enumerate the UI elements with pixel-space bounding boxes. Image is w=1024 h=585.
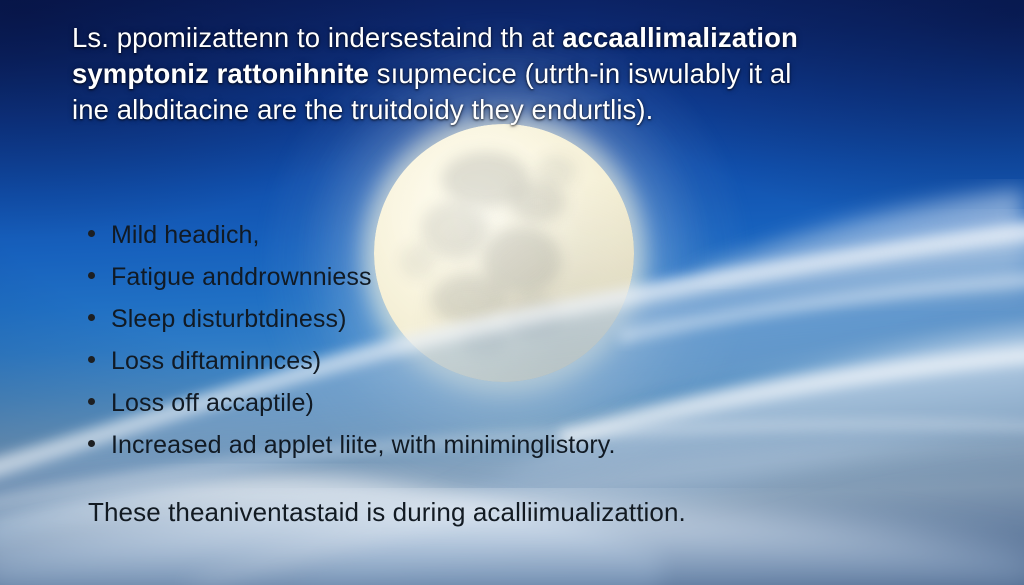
title-line-3: ine albditacine are the truitdoidy they … xyxy=(72,92,992,128)
list-item: Increased ad applet liite, with miniming… xyxy=(88,424,968,466)
list-item-label: Increased ad applet liite, with miniming… xyxy=(111,424,616,466)
closing-statement: These theaniventastaid is during acallii… xyxy=(88,494,988,530)
list-item: Loss off accaptile) xyxy=(88,382,968,424)
list-item-label: Mild headich, xyxy=(111,214,260,256)
slide-content: Ls. ppomiizattenn to indersestaind th at… xyxy=(0,0,1024,585)
title-line-2-plain: sıupmecice (utrth-in iswulably it al xyxy=(369,58,791,89)
slide-title: Ls. ppomiizattenn to indersestaind th at… xyxy=(72,20,992,128)
title-line-1: Ls. ppomiizattenn to indersestaind th at… xyxy=(72,20,992,56)
symptom-bullet-list: Mild headich, Fatigue anddrownniess Slee… xyxy=(88,214,968,466)
list-item-label: Sleep disturbtdiness) xyxy=(111,298,347,340)
bullet-dot-icon xyxy=(88,314,95,321)
list-item-label: Loss diftaminnces) xyxy=(111,340,321,382)
list-item: Fatigue anddrownniess xyxy=(88,256,968,298)
slide-canvas: Ls. ppomiizattenn to indersestaind th at… xyxy=(0,0,1024,585)
title-line-2: symptoniz rattonihnite sıupmecice (utrth… xyxy=(72,56,992,92)
bullet-dot-icon xyxy=(88,272,95,279)
bullet-dot-icon xyxy=(88,398,95,405)
list-item: Sleep disturbtdiness) xyxy=(88,298,968,340)
title-line-1-plain: Ls. ppomiizattenn to indersestaind th at xyxy=(72,22,562,53)
bullet-dot-icon xyxy=(88,356,95,363)
bullet-dot-icon xyxy=(88,440,95,447)
title-line-2-emphasis: symptoniz rattonihnite xyxy=(72,58,369,89)
title-line-1-emphasis: accaallimalization xyxy=(562,22,798,53)
list-item: Loss diftaminnces) xyxy=(88,340,968,382)
list-item-label: Loss off accaptile) xyxy=(111,382,314,424)
bullet-dot-icon xyxy=(88,230,95,237)
list-item: Mild headich, xyxy=(88,214,968,256)
list-item-label: Fatigue anddrownniess xyxy=(111,256,372,298)
